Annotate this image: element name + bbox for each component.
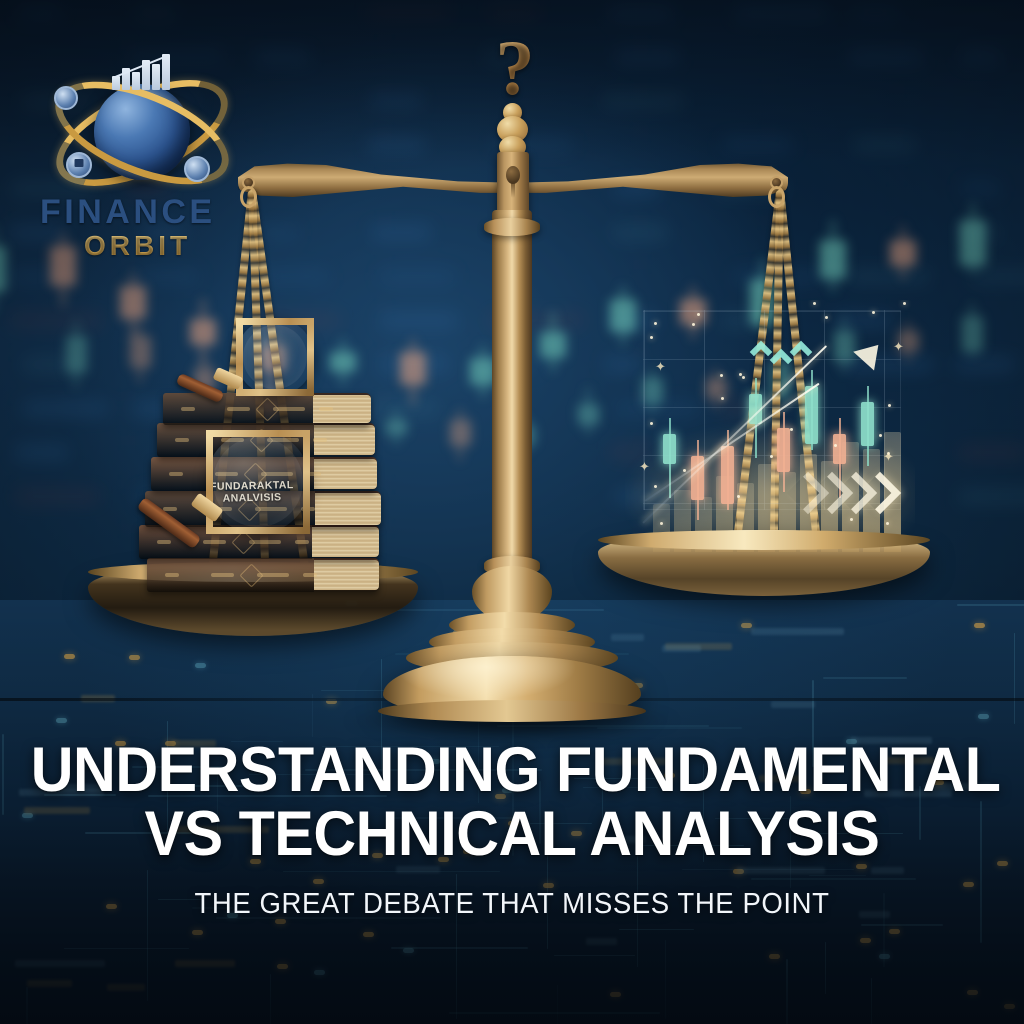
bar-chart-growth-icon	[112, 54, 174, 90]
logo-chart-bar	[132, 72, 140, 90]
hologram-candle	[805, 370, 818, 450]
column-collar-top	[484, 218, 540, 236]
book-spine-ornament	[157, 540, 171, 544]
logo-chart-bar	[112, 76, 120, 90]
hologram-spark	[825, 316, 828, 319]
technical-analysis-hologram: ✦✦✦✦	[625, 300, 915, 560]
hologram-spark	[903, 302, 906, 305]
chain-hook	[240, 186, 257, 208]
scale-fulcrum-block	[497, 152, 529, 218]
magnifier-lens-lower	[206, 430, 310, 534]
poster-canvas: ? FUNDARAKTAL ANALVISIS	[0, 0, 1024, 1024]
book-spine-ornament	[203, 540, 226, 544]
book-spine-ornament	[165, 573, 179, 577]
book-spine-ornament	[175, 438, 189, 442]
logo-chart-bar	[152, 64, 160, 90]
book-pages	[314, 459, 377, 489]
headline-subtitle: THE GREAT DEBATE THAT MISSES THE POINT	[26, 888, 999, 920]
hologram-spark	[721, 397, 724, 400]
brand-wordmark: FINANCE ORBIT	[40, 194, 236, 262]
magnifier-lens-upper	[236, 318, 314, 396]
hologram-candle	[861, 386, 874, 466]
brand-name-bottom: ORBIT	[84, 230, 236, 262]
question-mark-icon: ?	[487, 34, 543, 106]
book	[163, 393, 371, 425]
scale-column	[492, 210, 532, 570]
book-spine-ornament	[181, 407, 195, 411]
hologram-spark	[879, 434, 882, 437]
headline-line-1: UNDERSTANDING FUNDAMENTAL	[31, 738, 994, 802]
hologram-sparkle-icon: ✦	[893, 340, 904, 353]
hologram-spark	[742, 376, 745, 379]
padlock-icon	[66, 152, 92, 178]
target-arrow-icon	[184, 156, 210, 182]
hologram-candle	[777, 412, 790, 492]
scale-base-lip	[378, 700, 646, 722]
book-spine-ornament	[319, 407, 333, 411]
book-spine-ornament	[169, 472, 183, 476]
logo-chart-bar	[162, 54, 170, 90]
hologram-candle	[691, 440, 704, 520]
book-spine-ornament	[313, 438, 327, 442]
hologram-spark	[813, 302, 816, 305]
book-pages	[314, 560, 379, 590]
headline-line-2: VS TECHNICAL ANALYSIS	[31, 802, 994, 866]
hologram-spark	[654, 485, 657, 488]
headline-block: UNDERSTANDING FUNDAMENTAL VS TECHNICAL A…	[0, 738, 1024, 920]
brand-name-top: FINANCE	[40, 194, 236, 230]
book-spine-ornament	[227, 407, 250, 411]
hologram-sparkle-icon: ✦	[883, 450, 894, 463]
book-pages	[312, 527, 379, 557]
chain-hook	[768, 186, 785, 208]
brand-logo[interactable]: FINANCE ORBIT	[36, 44, 236, 284]
hologram-sparkle-icon: ✦	[655, 360, 666, 373]
book-spine-ornament	[303, 573, 317, 577]
hologram-spark	[790, 428, 793, 431]
hologram-spark	[720, 374, 723, 377]
book-spine-ornament	[211, 573, 234, 577]
hologram-spark	[739, 373, 742, 376]
book-spine-ornament	[295, 540, 309, 544]
right-pan-rim	[598, 530, 930, 550]
hologram-spark	[660, 522, 663, 525]
hologram-spark	[834, 444, 837, 447]
book-pages	[315, 493, 381, 525]
dollar-coin-icon	[54, 86, 78, 110]
right-pan	[598, 530, 930, 596]
book-spine-ornament	[163, 507, 177, 511]
book	[147, 558, 379, 592]
hologram-sparkle-icon: ✦	[639, 460, 650, 473]
